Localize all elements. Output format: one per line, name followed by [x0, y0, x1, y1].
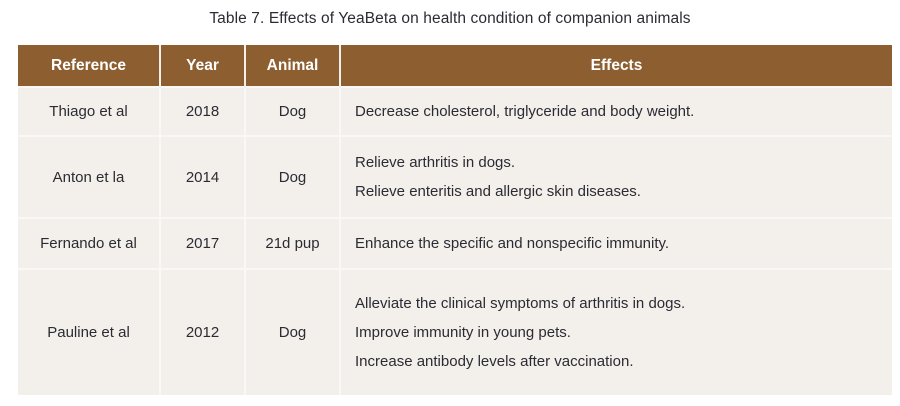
effect-line: Relieve arthritis in dogs.	[355, 148, 882, 177]
effect-line: Alleviate the clinical symptoms of arthr…	[355, 289, 882, 318]
cell-effects: Enhance the specific and nonspecific imm…	[340, 218, 892, 269]
effect-line: Relieve enteritis and allergic skin dise…	[355, 177, 882, 206]
table-container: Reference Year Animal Effects Thiago et …	[18, 45, 892, 395]
table-body: Thiago et al 2018 Dog Decrease cholester…	[18, 87, 892, 395]
cell-animal: Dog	[245, 87, 340, 136]
cell-effects: Relieve arthritis in dogs. Relieve enter…	[340, 136, 892, 218]
cell-year: 2014	[160, 136, 245, 218]
cell-effects: Decrease cholesterol, triglyceride and b…	[340, 87, 892, 136]
cell-animal: Dog	[245, 269, 340, 395]
cell-year: 2012	[160, 269, 245, 395]
table-header: Reference Year Animal Effects	[18, 45, 892, 87]
effect-line: Increase antibody levels after vaccinati…	[355, 347, 882, 376]
effects-table: Reference Year Animal Effects Thiago et …	[18, 45, 892, 395]
table-row: Pauline et al 2012 Dog Alleviate the cli…	[18, 269, 892, 395]
effect-line: Improve immunity in young pets.	[355, 318, 882, 347]
cell-animal: 21d pup	[245, 218, 340, 269]
cell-animal: Dog	[245, 136, 340, 218]
table-header-row: Reference Year Animal Effects	[18, 45, 892, 87]
column-header-year: Year	[160, 45, 245, 87]
page-root: Table 7. Effects of YeaBeta on health co…	[0, 0, 900, 406]
table-row: Anton et la 2014 Dog Relieve arthritis i…	[18, 136, 892, 218]
cell-year: 2018	[160, 87, 245, 136]
cell-reference: Anton et la	[18, 136, 160, 218]
cell-reference: Pauline et al	[18, 269, 160, 395]
column-header-reference: Reference	[18, 45, 160, 87]
effect-line: Enhance the specific and nonspecific imm…	[355, 229, 882, 258]
cell-reference: Fernando et al	[18, 218, 160, 269]
table-row: Thiago et al 2018 Dog Decrease cholester…	[18, 87, 892, 136]
table-caption: Table 7. Effects of YeaBeta on health co…	[0, 0, 900, 29]
effect-line: Decrease cholesterol, triglyceride and b…	[355, 97, 882, 126]
cell-year: 2017	[160, 218, 245, 269]
table-row: Fernando et al 2017 21d pup Enhance the …	[18, 218, 892, 269]
column-header-effects: Effects	[340, 45, 892, 87]
cell-effects: Alleviate the clinical symptoms of arthr…	[340, 269, 892, 395]
cell-reference: Thiago et al	[18, 87, 160, 136]
column-header-animal: Animal	[245, 45, 340, 87]
